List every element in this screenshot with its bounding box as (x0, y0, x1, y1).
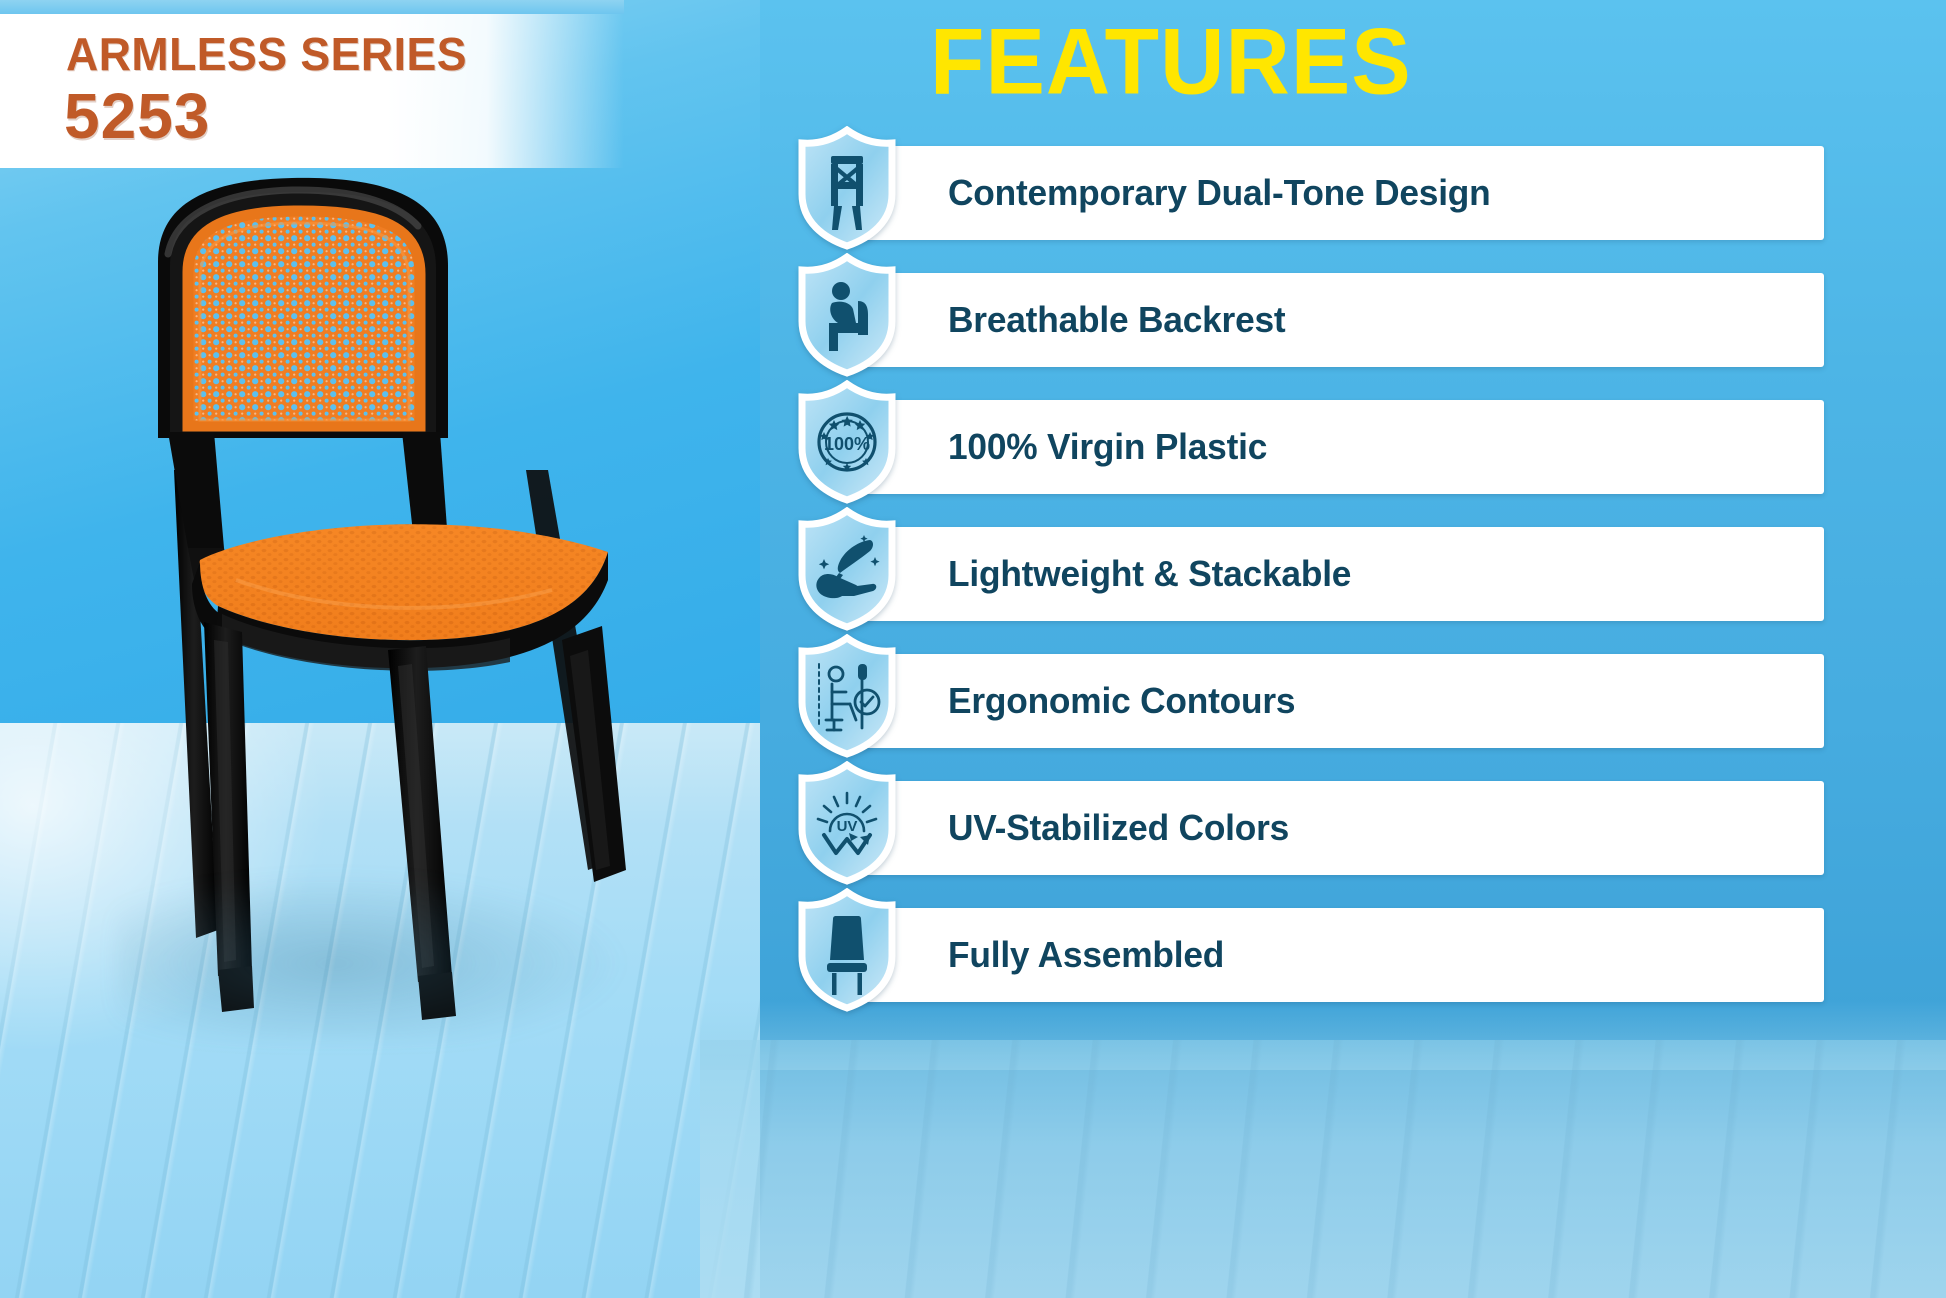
product-chair-image (96, 170, 696, 1050)
features-list: Contemporary Dual-Tone Design (790, 138, 1930, 1027)
feature-row[interactable]: Lightweight & Stackable (790, 519, 1930, 627)
svg-text:100%: 100% (824, 434, 870, 454)
feature-row[interactable]: UV UV-Stabilized Colors (790, 773, 1930, 881)
feature-label: Ergonomic Contours (948, 654, 1295, 748)
model-number: 5253 (64, 84, 210, 148)
feature-label: Breathable Backrest (948, 273, 1285, 367)
feature-label: Contemporary Dual-Tone Design (948, 146, 1491, 240)
hand-feather-icon (798, 507, 896, 631)
feature-row[interactable]: Fully Assembled (790, 900, 1930, 1008)
right-floor-planks (700, 1040, 1946, 1298)
svg-text:UV: UV (837, 818, 858, 835)
feature-label: 100% Virgin Plastic (948, 400, 1267, 494)
poster-canvas: ARMLESS SERIES 5253 (0, 0, 1946, 1298)
feature-row[interactable]: Ergonomic Contours (790, 646, 1930, 754)
feature-row[interactable]: Breathable Backrest (790, 265, 1930, 373)
feature-row[interactable]: 100% 100% Virgin Plastic (790, 392, 1930, 500)
feature-label: UV-Stabilized Colors (948, 781, 1289, 875)
assembled-chair-icon (798, 888, 896, 1012)
person-seated-side-icon (798, 253, 896, 377)
header-top-strip (0, 0, 624, 14)
feature-label: Lightweight & Stackable (948, 527, 1351, 621)
features-heading: FEATURES (930, 14, 1375, 108)
feature-row[interactable]: Contemporary Dual-Tone Design (790, 138, 1930, 246)
ergonomic-posture-check-icon (798, 634, 896, 758)
hundred-percent-seal-icon: 100% (798, 380, 896, 504)
series-title: ARMLESS SERIES (66, 27, 467, 81)
uv-sun-arrows-icon: UV (798, 761, 896, 885)
chair-backrest-mesh-icon (798, 126, 896, 250)
chair-shadow (116, 870, 636, 1040)
feature-label: Fully Assembled (948, 908, 1224, 1002)
